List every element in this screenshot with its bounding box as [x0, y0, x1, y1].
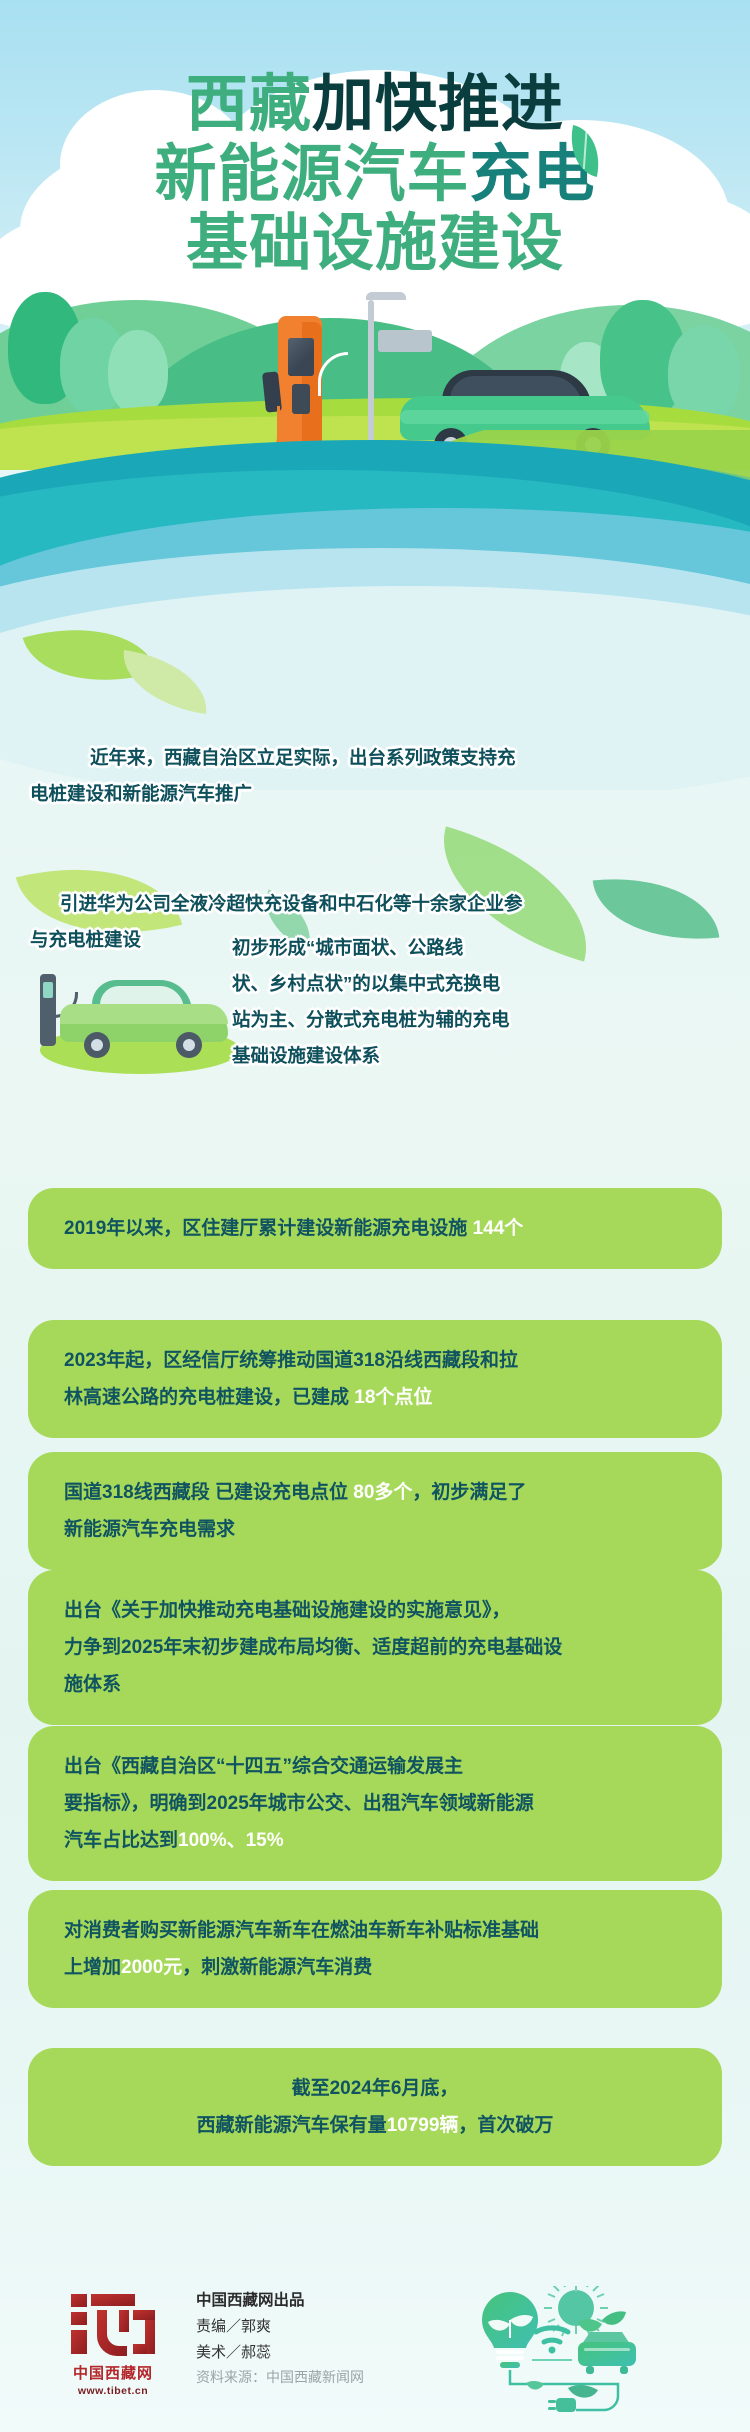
fact-text: 林高速公路的充电桩建设，已建成	[64, 1387, 354, 1408]
intro-p1-line1: 近年来，西藏自治区立足实际，出台系列政策支持充	[90, 740, 690, 776]
fact-text: ，初步满足了	[412, 1482, 526, 1503]
fact-text: ，刺激新能源汽车消费	[182, 1957, 372, 1978]
intro-p3-line2: 状、乡村点状”的以集中式充换电	[232, 966, 702, 1002]
fact-line: 2023年起，区经信厅统筹推动国道318沿线西藏段和拉	[64, 1342, 686, 1379]
wifi-dot	[549, 2347, 556, 2354]
fact-line: 林高速公路的充电桩建设，已建成 18个点位	[64, 1379, 686, 1416]
fact-line: 上增加2000元，刺激新能源汽车消费	[64, 1949, 686, 1986]
intro-p3-line4: 基础设施建设体系	[232, 1038, 702, 1074]
bulb-leaf-icon	[482, 2292, 538, 2368]
footer-eco-illustration	[452, 2286, 682, 2412]
fact-highlight: 10799辆	[387, 2115, 459, 2136]
source-credit: 资料来源：中国西藏新闻网	[196, 2366, 364, 2392]
fact-text: 力争到2025年末初步建成布局均衡、适度超前的充电基础设	[64, 1637, 562, 1658]
fact-line: 力争到2025年末初步建成布局均衡、适度超前的充电基础设	[64, 1629, 686, 1666]
intro-p1-line2: 电桩建设和新能源汽车推广	[30, 776, 690, 812]
fact-line: 要指标》，明确到2025年城市公交、出租汽车领域新能源	[64, 1785, 686, 1822]
road-sign	[378, 330, 432, 352]
fact-text: 新能源汽车充电需求	[64, 1519, 235, 1540]
fact-line: 出台《西藏自治区“十四五”综合交通运输发展主	[64, 1748, 686, 1785]
fact-text: 汽车占比达到	[64, 1830, 178, 1851]
leaf-icon	[526, 2381, 544, 2389]
fact-text: 2019年以来，区住建厅累计建设新能源充电设施	[64, 1218, 473, 1239]
fact-line: 出台《关于加快推动充电基础设施建设的实施意见》，	[64, 1592, 686, 1629]
fact-text: 要指标》，明确到2025年城市公交、出租汽车领域新能源	[64, 1793, 534, 1814]
title-line2-part1: 新能源汽车	[154, 140, 469, 209]
fact-total-ownership: 截至2024年6月底，西藏新能源汽车保有量10799辆，首次破万	[28, 2048, 722, 2166]
fact-text: 西藏新能源汽车保有量	[197, 2115, 387, 2136]
fact-highlight: 2000元	[121, 1957, 182, 1978]
intro-p3-line1: 初步形成“城市面状、公路线	[232, 930, 702, 966]
charging-car-illustration	[36, 952, 246, 1082]
fact-text: 出台《西藏自治区“十四五”综合交通运输发展主	[64, 1756, 463, 1777]
fact-consumer-subsidy: 对消费者购买新能源汽车新车在燃油车新车补贴标准基础上增加2000元，刺激新能源汽…	[28, 1890, 722, 2008]
fact-housing-dept: 2019年以来，区住建厅累计建设新能源充电设施 144个	[28, 1188, 722, 1269]
plug-icon	[548, 2398, 576, 2412]
fact-line: 汽车占比达到100%、15%	[64, 1822, 686, 1859]
fact-line: 西藏新能源汽车保有量10799辆，首次破万	[64, 2107, 686, 2144]
logo-name: 中国西藏网	[58, 2362, 168, 2383]
title-line1-part1: 西藏	[186, 70, 312, 139]
fact-highlight: 80多个	[353, 1482, 412, 1503]
fact-line: 对消费者购买新能源汽车新车在燃油车新车补贴标准基础	[64, 1912, 686, 1949]
intro-paragraph-1: 近年来，西藏自治区立足实际，出台系列政策支持充 电桩建设和新能源汽车推广	[90, 740, 690, 812]
fact-text: 对消费者购买新能源汽车新车在燃油车新车补贴标准基础	[64, 1920, 539, 1941]
fact-implementation-opinion: 出台《关于加快推动充电基础设施建设的实施意见》，力争到2025年末初步建成布局均…	[28, 1570, 722, 1725]
tree-icon	[108, 330, 168, 414]
fact-text: 施体系	[64, 1674, 121, 1695]
fact-line: 施体系	[64, 1666, 686, 1703]
intro-p2-line1: 引进华为公司全液冷超快充设备和中石化等十余家企业参	[60, 886, 700, 922]
fact-text: 2023年起，区经信厅统筹推动国道318沿线西藏段和拉	[64, 1350, 518, 1371]
page-title: 西藏加快推进 新能源汽车充电 基础设施建设	[0, 72, 750, 277]
hero-illustration: 西藏加快推进 新能源汽车充电 基础设施建设	[0, 0, 750, 470]
fact-text: 截至2024年6月底，	[292, 2078, 459, 2099]
fact-text: ，首次破万	[458, 2115, 553, 2136]
editor-credit: 责编／郭爽	[196, 2314, 364, 2340]
intro-paragraph-3: 初步形成“城市面状、公路线 状、乡村点状”的以集中式充换电 站为主、分散式充电桩…	[232, 930, 702, 1074]
wave-band	[0, 430, 750, 790]
car-icon	[578, 2332, 636, 2374]
title-line1-part2: 加快推进	[312, 70, 564, 139]
fact-line: 新能源汽车充电需求	[64, 1511, 686, 1548]
fact-text: 国道318线西藏段 已建设充电点位	[64, 1482, 353, 1503]
fact-14th-five-year-plan: 出台《西藏自治区“十四五”综合交通运输发展主要指标》，明确到2025年城市公交、…	[28, 1726, 722, 1881]
fact-highlight: 100%、15%	[178, 1830, 284, 1851]
infographic-poster: 西藏加快推进 新能源汽车充电 基础设施建设 近年来，西藏自治区立足实际，出台系列…	[0, 0, 750, 2432]
tibet-net-logo-icon	[67, 2290, 159, 2360]
street-lamp-icon	[368, 300, 374, 450]
fact-highlight: 18个点位	[354, 1387, 432, 1408]
fact-g318-tibet-section: 国道318线西藏段 已建设充电点位 80多个，初步满足了新能源汽车充电需求	[28, 1452, 722, 1570]
fact-text: 上增加	[64, 1957, 121, 1978]
fact-line: 2019年以来，区住建厅累计建设新能源充电设施 144个	[64, 1210, 686, 1247]
leaf-icon	[568, 2385, 598, 2398]
site-logo[interactable]: 中国西藏网 www.tibet.cn	[58, 2290, 168, 2402]
logo-url[interactable]: www.tibet.cn	[58, 2385, 168, 2397]
fact-line: 截至2024年6月底，	[64, 2070, 686, 2107]
produced-by: 中国西藏网出品	[196, 2288, 364, 2314]
fact-line: 国道318线西藏段 已建设充电点位 80多个，初步满足了	[64, 1474, 686, 1511]
footer: 中国西藏网 www.tibet.cn 中国西藏网出品 责编／郭爽 美术／郝蕊 资…	[0, 2282, 750, 2432]
tree-icon	[668, 326, 740, 422]
art-credit: 美术／郝蕊	[196, 2340, 364, 2366]
fact-highlight: 144个	[473, 1218, 524, 1239]
fact-g318-lalin: 2023年起，区经信厅统筹推动国道318沿线西藏段和拉林高速公路的充电桩建设，已…	[28, 1320, 722, 1438]
fact-text: 出台《关于加快推动充电基础设施建设的实施意见》，	[64, 1600, 511, 1621]
intro-p3-line3: 站为主、分散式充电桩为辅的充电	[232, 1002, 702, 1038]
title-line3: 基础设施建设	[186, 209, 564, 278]
credits-block: 中国西藏网出品 责编／郭爽 美术／郝蕊 资料来源：中国西藏新闻网	[196, 2288, 364, 2392]
